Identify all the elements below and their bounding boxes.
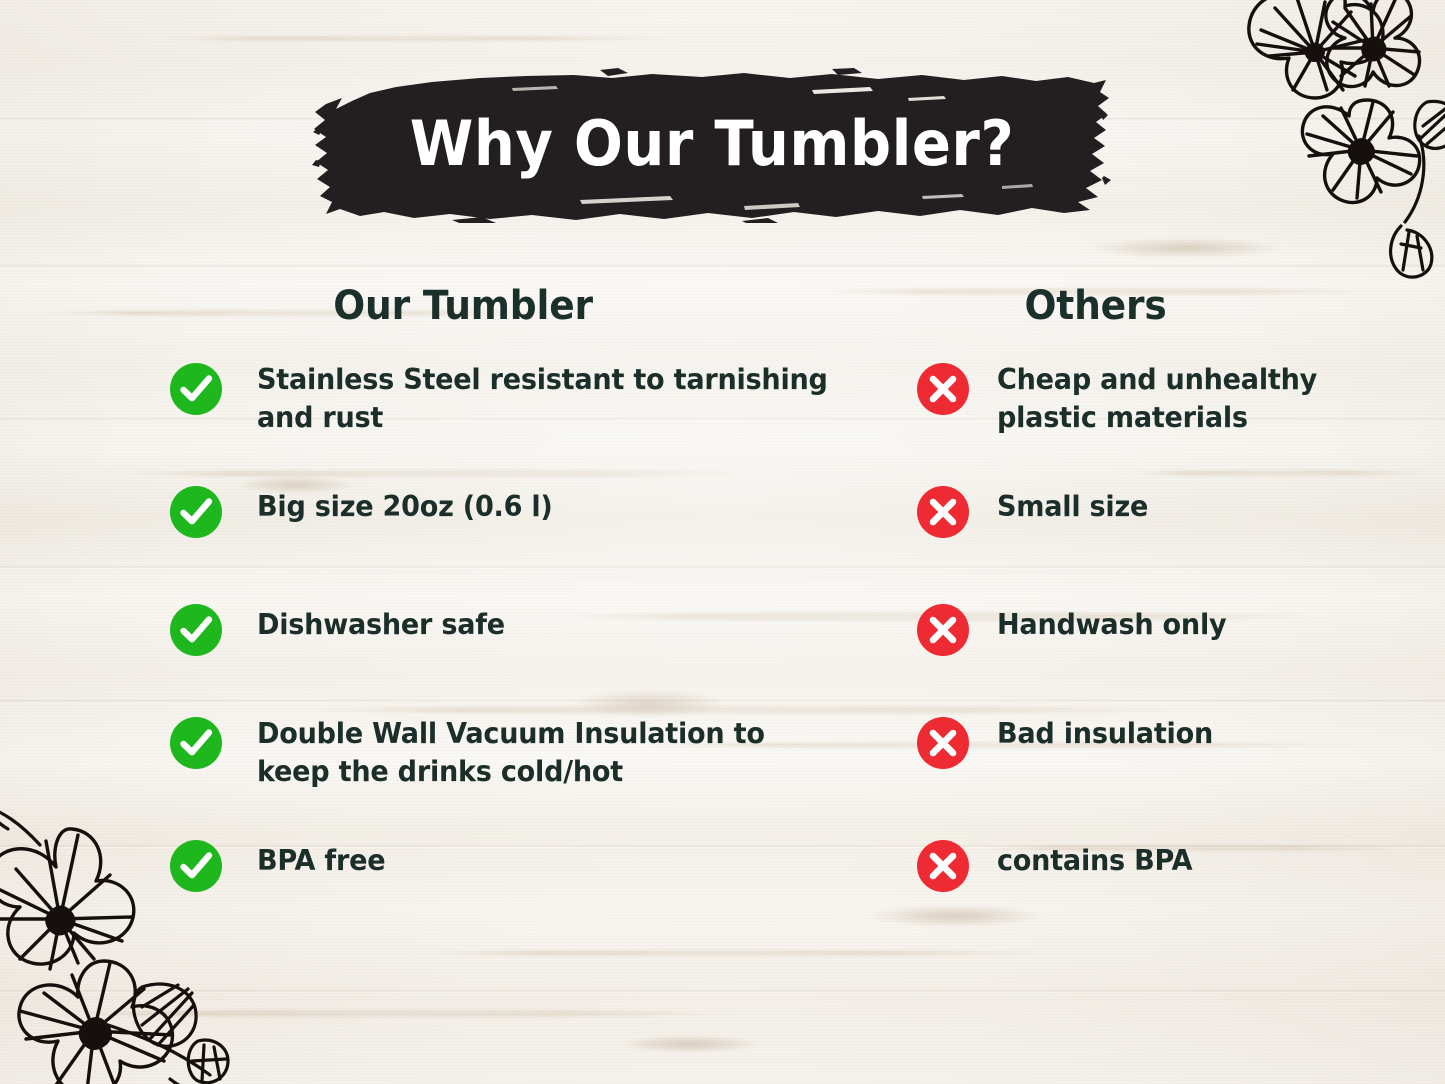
wood-knot — [620, 1035, 760, 1053]
cross-circle-icon — [917, 363, 969, 415]
column-header-ours: Our Tumbler — [333, 283, 593, 329]
ours-feature-label: Big size 20oz (0.6 l) — [257, 478, 553, 526]
page-title: Why Our Tumbler? — [340, 68, 1084, 223]
check-circle-icon — [170, 604, 222, 656]
wood-streak — [60, 1010, 740, 1017]
comparison-row: Stainless Steel resistant to tarnishing … — [0, 360, 1445, 478]
others-cell: contains BPA — [917, 832, 1377, 892]
plank-seam — [0, 265, 1445, 268]
comparison-row: Double Wall Vacuum Insulation to keep th… — [0, 714, 1445, 832]
others-feature-label: contains BPA — [997, 832, 1192, 880]
others-feature-label: Small size — [997, 478, 1148, 526]
cross-circle-icon — [917, 486, 969, 538]
ours-cell: BPA free — [170, 832, 870, 892]
cross-circle-icon — [917, 604, 969, 656]
check-circle-icon — [170, 486, 222, 538]
others-feature-label: Cheap and unhealthy plastic materials — [997, 360, 1358, 437]
ours-cell: Big size 20oz (0.6 l) — [170, 478, 870, 538]
title-banner: Why Our Tumbler? — [312, 68, 1112, 223]
ours-cell: Stainless Steel resistant to tarnishing … — [170, 360, 870, 437]
ours-cell: Dishwasher safe — [170, 596, 870, 656]
cross-circle-icon — [917, 717, 969, 769]
comparison-grid: Stainless Steel resistant to tarnishing … — [0, 360, 1445, 950]
others-cell: Handwash only — [917, 596, 1377, 656]
others-feature-label: Bad insulation — [997, 714, 1213, 753]
comparison-row: Dishwasher safeHandwash only — [0, 596, 1445, 714]
ours-feature-label: Stainless Steel resistant to tarnishing … — [257, 360, 839, 437]
ours-feature-label: BPA free — [257, 832, 385, 880]
others-cell: Cheap and unhealthy plastic materials — [917, 360, 1377, 437]
comparison-row: BPA freecontains BPA — [0, 832, 1445, 950]
wood-knot — [1090, 238, 1280, 258]
wood-streak — [420, 950, 1060, 956]
others-cell: Small size — [917, 478, 1377, 538]
ours-feature-label: Double Wall Vacuum Insulation to keep th… — [257, 714, 839, 791]
ours-cell: Double Wall Vacuum Insulation to keep th… — [170, 714, 870, 791]
wood-streak — [160, 36, 680, 41]
comparison-row: Big size 20oz (0.6 l)Small size — [0, 478, 1445, 596]
check-circle-icon — [170, 717, 222, 769]
check-circle-icon — [170, 363, 222, 415]
ours-feature-label: Dishwasher safe — [257, 596, 505, 644]
column-header-others: Others — [1025, 283, 1167, 329]
cross-circle-icon — [917, 840, 969, 892]
others-cell: Bad insulation — [917, 714, 1377, 769]
check-circle-icon — [170, 840, 222, 892]
infographic-canvas: Why Our Tumbler? Our Tumbler Others Stai… — [0, 0, 1445, 1084]
others-feature-label: Handwash only — [997, 596, 1226, 644]
plank-seam — [0, 990, 1445, 993]
